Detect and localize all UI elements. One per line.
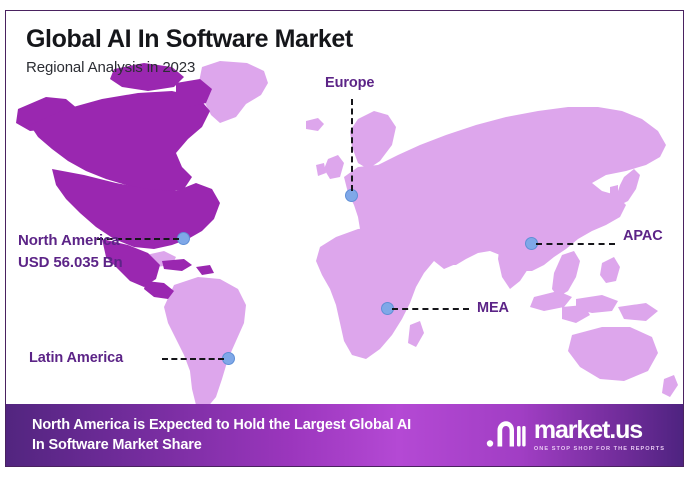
callout-north-america-label: North America	[18, 230, 123, 252]
region-cuba	[162, 259, 192, 271]
leader-apac	[536, 243, 615, 245]
callout-mea-label: MEA	[477, 300, 509, 316]
header: Global AI In Software Market Regional An…	[26, 25, 353, 76]
footer-statement-line1: North America is Expected to Hold the La…	[32, 415, 476, 435]
footer-banner: North America is Expected to Hold the La…	[6, 404, 683, 466]
region-madagascar	[408, 321, 424, 347]
leader-europe	[351, 99, 353, 191]
market-us-bars-icon	[486, 420, 526, 450]
region-south-america	[164, 277, 246, 409]
leader-mea	[392, 308, 469, 310]
region-central-america	[144, 281, 174, 299]
region-iceland	[306, 118, 324, 131]
region-hispaniola	[196, 265, 214, 275]
region-philippines	[600, 257, 620, 283]
callout-latin-america-label: Latin America	[29, 350, 123, 366]
page-subtitle: Regional Analysis in 2023	[26, 59, 353, 76]
region-british-isles	[324, 155, 344, 179]
region-new-guinea	[618, 303, 658, 321]
callout-europe-label: Europe	[325, 75, 374, 91]
footer-statement: North America is Expected to Hold the La…	[6, 415, 486, 455]
logo-wordmark: market.us	[534, 418, 642, 443]
callout-apac[interactable]: APAC	[623, 227, 663, 246]
callout-latin-america[interactable]: Latin America	[29, 349, 123, 368]
region-korea	[610, 185, 618, 199]
region-sea-peninsula	[552, 251, 580, 297]
logo-tagline: ONE STOP SHOP FOR THE REPORTS	[534, 446, 665, 452]
callout-apac-label: APAC	[623, 228, 663, 244]
callout-europe[interactable]: Europe	[325, 74, 374, 93]
region-ireland	[316, 163, 326, 176]
market-us-logo[interactable]: market.us ONE STOP SHOP FOR THE REPORTS	[486, 418, 683, 452]
callout-mea[interactable]: MEA	[477, 299, 509, 318]
page-title: Global AI In Software Market	[26, 25, 353, 53]
callout-north-america-value: USD 56.035 Bn	[18, 252, 123, 274]
footer-statement-line2: In Software Market Share	[32, 435, 476, 455]
region-australia	[568, 327, 658, 381]
callout-north-america[interactable]: North America USD 56.035 Bn	[18, 230, 123, 274]
logo-text-block: market.us ONE STOP SHOP FOR THE REPORTS	[534, 418, 665, 452]
region-japan	[616, 169, 640, 205]
leader-latin-america	[162, 358, 224, 360]
region-new-zealand	[662, 375, 678, 397]
infographic-card: Global AI In Software Market Regional An…	[5, 10, 684, 467]
